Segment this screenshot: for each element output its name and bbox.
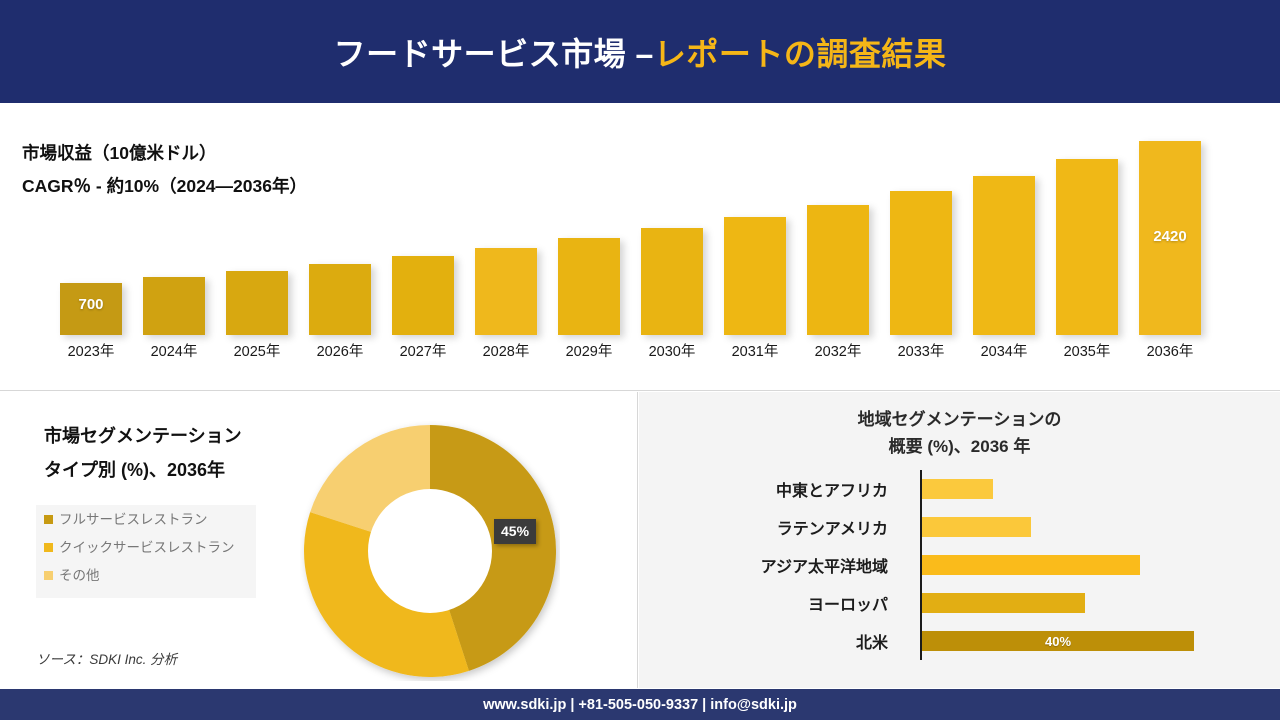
type-segmentation-legend: フルサービスレストランクイックサービスレストランその他 (36, 505, 256, 598)
legend-item-3[interactable]: その他 (44, 567, 248, 584)
bar-category-label: 2026年 (294, 340, 386, 361)
region-row-アジア太平洋地域: アジア太平洋地域 (639, 546, 1280, 584)
bar-rect (807, 205, 869, 335)
region-bar-rect (922, 593, 1085, 613)
footer-contact-text: www.sdki.jp | +81-505-050-9337 | info@sd… (483, 697, 797, 713)
bar-rect (641, 228, 703, 335)
revenue-bar-2032年 (807, 205, 869, 335)
bar-rect (724, 217, 786, 335)
revenue-bar-2033年 (890, 191, 952, 335)
page-footer: www.sdki.jp | +81-505-050-9337 | info@sd… (0, 689, 1280, 720)
region-row-北米: 北米40% (639, 622, 1280, 660)
market-revenue-panel: 市場収益（10億米ドル） CAGR％ - 約10%（2024―2036年） 70… (0, 108, 1280, 391)
page-title-primary: フードサービス市場 – (334, 36, 654, 72)
region-bar-value-label: 40% (1045, 634, 1071, 649)
page-header: フードサービス市場 –レポートの調査結果 (0, 0, 1280, 103)
region-category-label: 中東とアフリカ (658, 477, 888, 501)
legend-label: クイックサービスレストラン (59, 539, 235, 556)
revenue-bar-2027年 (392, 256, 454, 335)
region-bar-rect: 40% (922, 631, 1194, 651)
legend-item-2[interactable]: クイックサービスレストラン (44, 539, 248, 556)
revenue-bar-2030年 (641, 228, 703, 335)
bar-category-label: 2033年 (875, 340, 967, 361)
region-segmentation-plot: 中東とアフリカラテンアメリカアジア太平洋地域ヨーロッパ北米40% (639, 470, 1280, 670)
bar-category-label: 2025年 (211, 340, 303, 361)
bar-category-label: 2034年 (958, 340, 1050, 361)
revenue-bar-2029年 (558, 238, 620, 335)
bar-rect (309, 264, 371, 335)
region-category-label: ラテンアメリカ (658, 515, 888, 539)
revenue-bar-2024年 (143, 277, 205, 335)
legend-label: その他 (59, 567, 100, 584)
bar-rect (392, 256, 454, 335)
legend-swatch-icon (44, 543, 53, 552)
revenue-bar-2028年 (475, 248, 537, 335)
bar-category-label: 2032年 (792, 340, 884, 361)
bar-category-label: 2031年 (709, 340, 801, 361)
bar-rect (973, 176, 1035, 335)
bar-category-label: 2023年 (45, 340, 137, 361)
region-segmentation-title: 地域セグメンテーションの 概要 (%)、2036 年 (639, 406, 1280, 460)
region-category-label: ヨーロッパ (658, 591, 888, 615)
revenue-bar-2026年 (309, 264, 371, 335)
type-segmentation-donut: 45% (300, 421, 560, 681)
market-revenue-bars: 7002023年2024年2025年2026年2027年2028年2029年20… (0, 108, 1280, 391)
donut-hole (368, 489, 492, 613)
type-segmentation-panel: 市場セグメンテーション タイプ別 (%)、2036年 フルサービスレストランクイ… (0, 392, 638, 688)
revenue-bar-2025年 (226, 271, 288, 335)
page-title: フードサービス市場 –レポートの調査結果 (334, 29, 947, 75)
region-segmentation-panel: 地域セグメンテーションの 概要 (%)、2036 年 中東とアフリカラテンアメリ… (639, 392, 1280, 688)
bar-category-label: 2036年 (1124, 340, 1216, 361)
bar-category-label: 2030年 (626, 340, 718, 361)
bar-rect (226, 271, 288, 335)
region-row-ラテンアメリカ: ラテンアメリカ (639, 508, 1280, 546)
bar-rect (475, 248, 537, 335)
donut-svg (300, 421, 560, 681)
region-bar-rect (922, 517, 1031, 537)
bar-rect (890, 191, 952, 335)
bar-category-label: 2035年 (1041, 340, 1133, 361)
revenue-bar-2023年: 700 (60, 283, 122, 335)
revenue-bar-2035年 (1056, 159, 1118, 335)
legend-swatch-icon (44, 515, 53, 524)
bar-value-label: 700 (60, 296, 122, 313)
legend-swatch-icon (44, 571, 53, 580)
region-category-label: アジア太平洋地域 (658, 553, 888, 577)
bar-category-label: 2028年 (460, 340, 552, 361)
legend-label: フルサービスレストラン (59, 511, 208, 528)
revenue-bar-2031年 (724, 217, 786, 335)
type-segmentation-title-line1: 市場セグメンテーション (44, 419, 294, 453)
revenue-bar-2036年: 2420 (1139, 141, 1201, 335)
bar-category-label: 2029年 (543, 340, 635, 361)
donut-value-badge: 45% (494, 519, 536, 544)
revenue-bar-2034年 (973, 176, 1035, 335)
type-segmentation-title: 市場セグメンテーション タイプ別 (%)、2036年 (44, 419, 294, 487)
region-bar-rect (922, 555, 1140, 575)
region-row-ヨーロッパ: ヨーロッパ (639, 584, 1280, 622)
region-bar-rect (922, 479, 993, 499)
source-note: ソース：SDKI Inc. 分析 (36, 648, 177, 668)
region-category-label: 北米 (658, 629, 888, 653)
bar-rect (1056, 159, 1118, 335)
legend-item-1[interactable]: フルサービスレストラン (44, 511, 248, 528)
region-segmentation-title-line1: 地域セグメンテーションの (639, 406, 1280, 433)
bar-rect (143, 277, 205, 335)
bar-rect (558, 238, 620, 335)
bar-value-label: 2420 (1139, 228, 1201, 245)
page-title-accent: レポートの調査結果 (654, 36, 947, 72)
type-segmentation-title-line2: タイプ別 (%)、2036年 (44, 453, 294, 487)
bar-category-label: 2024年 (128, 340, 220, 361)
region-segmentation-title-line2: 概要 (%)、2036 年 (639, 433, 1280, 460)
bar-category-label: 2027年 (377, 340, 469, 361)
region-row-中東とアフリカ: 中東とアフリカ (639, 470, 1280, 508)
